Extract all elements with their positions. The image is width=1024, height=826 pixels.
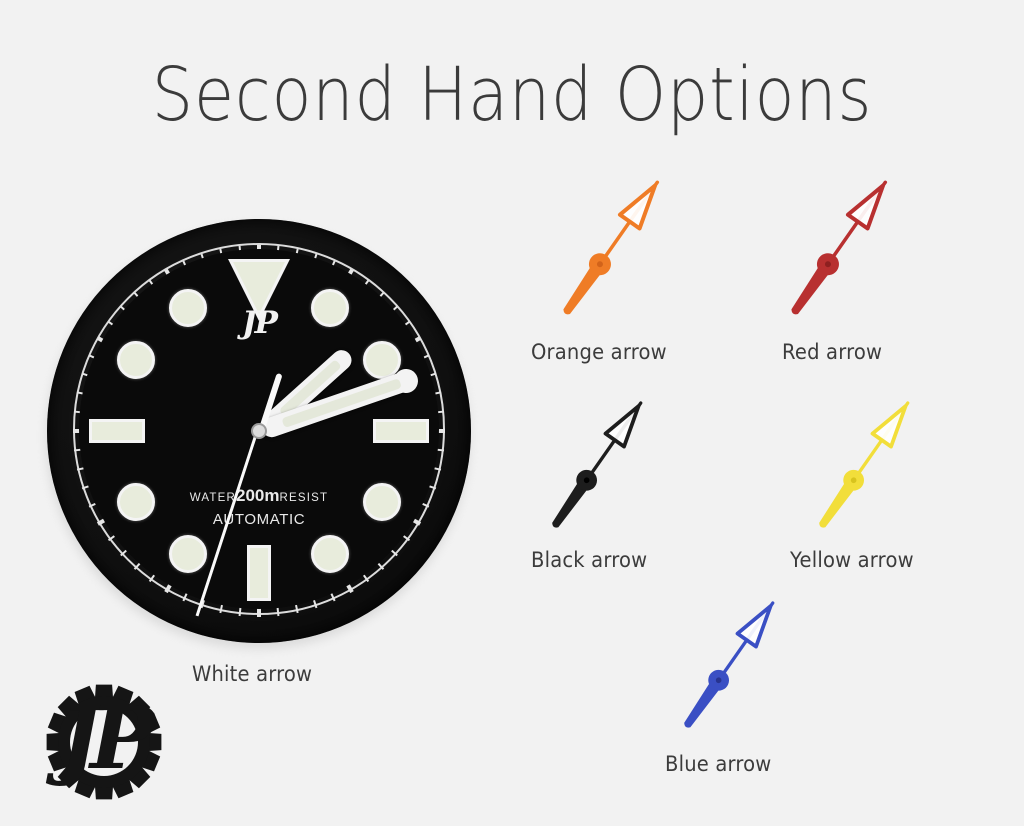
swatch-yellow-arrow[interactable]: [785, 382, 945, 552]
yellow-arrow-icon: [785, 382, 945, 547]
label-black-arrow: Black arrow: [531, 548, 647, 572]
gear-monogram: JP: [45, 688, 157, 789]
label-blue-arrow: Blue arrow: [665, 752, 771, 776]
page-title: Second Hand Options: [61, 52, 962, 138]
label-white-arrow: White arrow: [192, 662, 312, 686]
swatch-blue-arrow[interactable]: [650, 582, 810, 752]
label-orange-arrow: Orange arrow: [531, 340, 667, 364]
swatch-red-arrow[interactable]: [760, 160, 920, 340]
watch-dial-preview: JP WATER200mRESIST AUTOMATIC: [44, 219, 472, 649]
label-red-arrow: Red arrow: [782, 340, 882, 364]
page-root: Second Hand Options JP WATER200mRESIST A…: [0, 0, 1024, 826]
orange-arrow-icon: [532, 160, 692, 335]
dial-case: JP WATER200mRESIST AUTOMATIC: [47, 219, 471, 643]
blue-arrow-icon: [650, 582, 810, 747]
swatch-black-arrow[interactable]: [518, 382, 678, 552]
label-yellow-arrow: Yellow arrow: [790, 548, 914, 572]
hand-pivot: [251, 423, 267, 439]
swatch-orange-arrow[interactable]: [532, 160, 692, 340]
red-arrow-icon: [760, 160, 920, 335]
gear-logo-icon: JP: [36, 676, 176, 810]
black-arrow-icon: [518, 382, 678, 547]
second-hand-white: [196, 429, 259, 616]
brand-gear-logo: JP: [36, 676, 176, 810]
